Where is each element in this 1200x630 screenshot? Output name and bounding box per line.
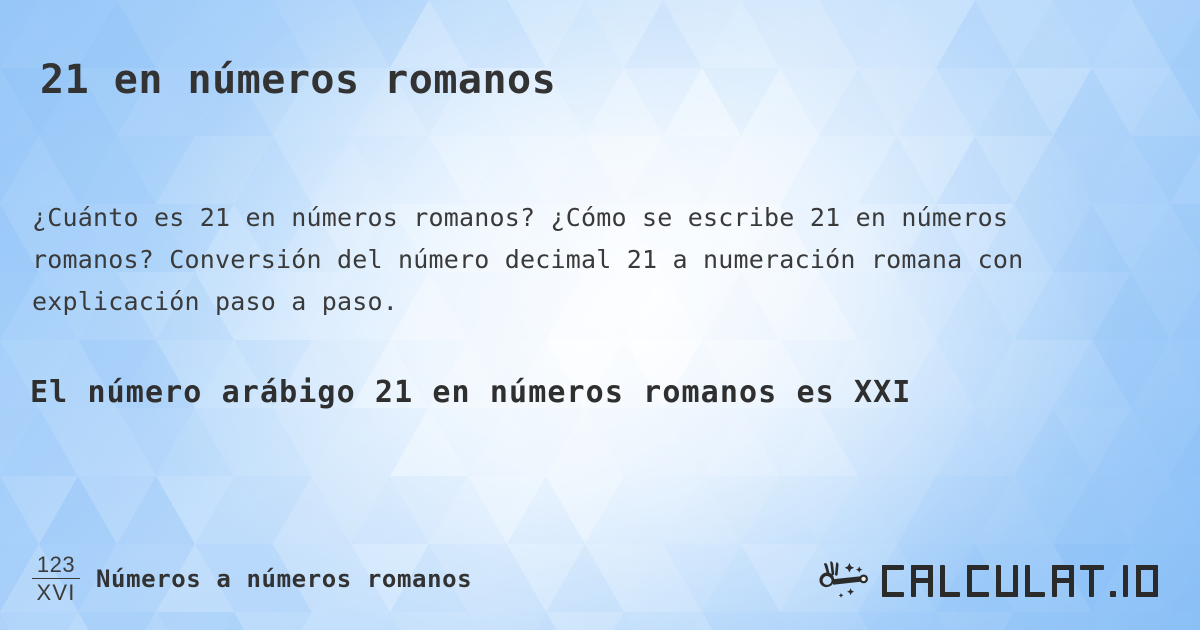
- hand-magic-wand-icon: [818, 560, 874, 602]
- arabic-to-roman-icon-bottom: XVI: [36, 582, 75, 604]
- arabic-to-roman-icon-top: 123: [37, 554, 75, 576]
- footer-brand[interactable]: 123 XVI Números a números romanos: [30, 554, 472, 605]
- social-share-card: 21 en números romanos ¿Cuánto es 21 en n…: [0, 0, 1200, 630]
- arabic-to-roman-icon-divider: [32, 578, 80, 580]
- footer-label: Números a números romanos: [96, 565, 472, 593]
- calculatio-wordmark: [880, 561, 1168, 601]
- arabic-to-roman-icon: 123 XVI: [30, 554, 82, 605]
- page-title: 21 en números romanos: [40, 57, 556, 103]
- description-text: ¿Cuánto es 21 en números romanos? ¿Cómo …: [32, 197, 1122, 323]
- footer: 123 XVI Números a números romanos: [0, 534, 1200, 630]
- calculatio-logo[interactable]: [818, 560, 1168, 602]
- answer-statement: El número arábigo 21 en números romanos …: [30, 375, 1170, 411]
